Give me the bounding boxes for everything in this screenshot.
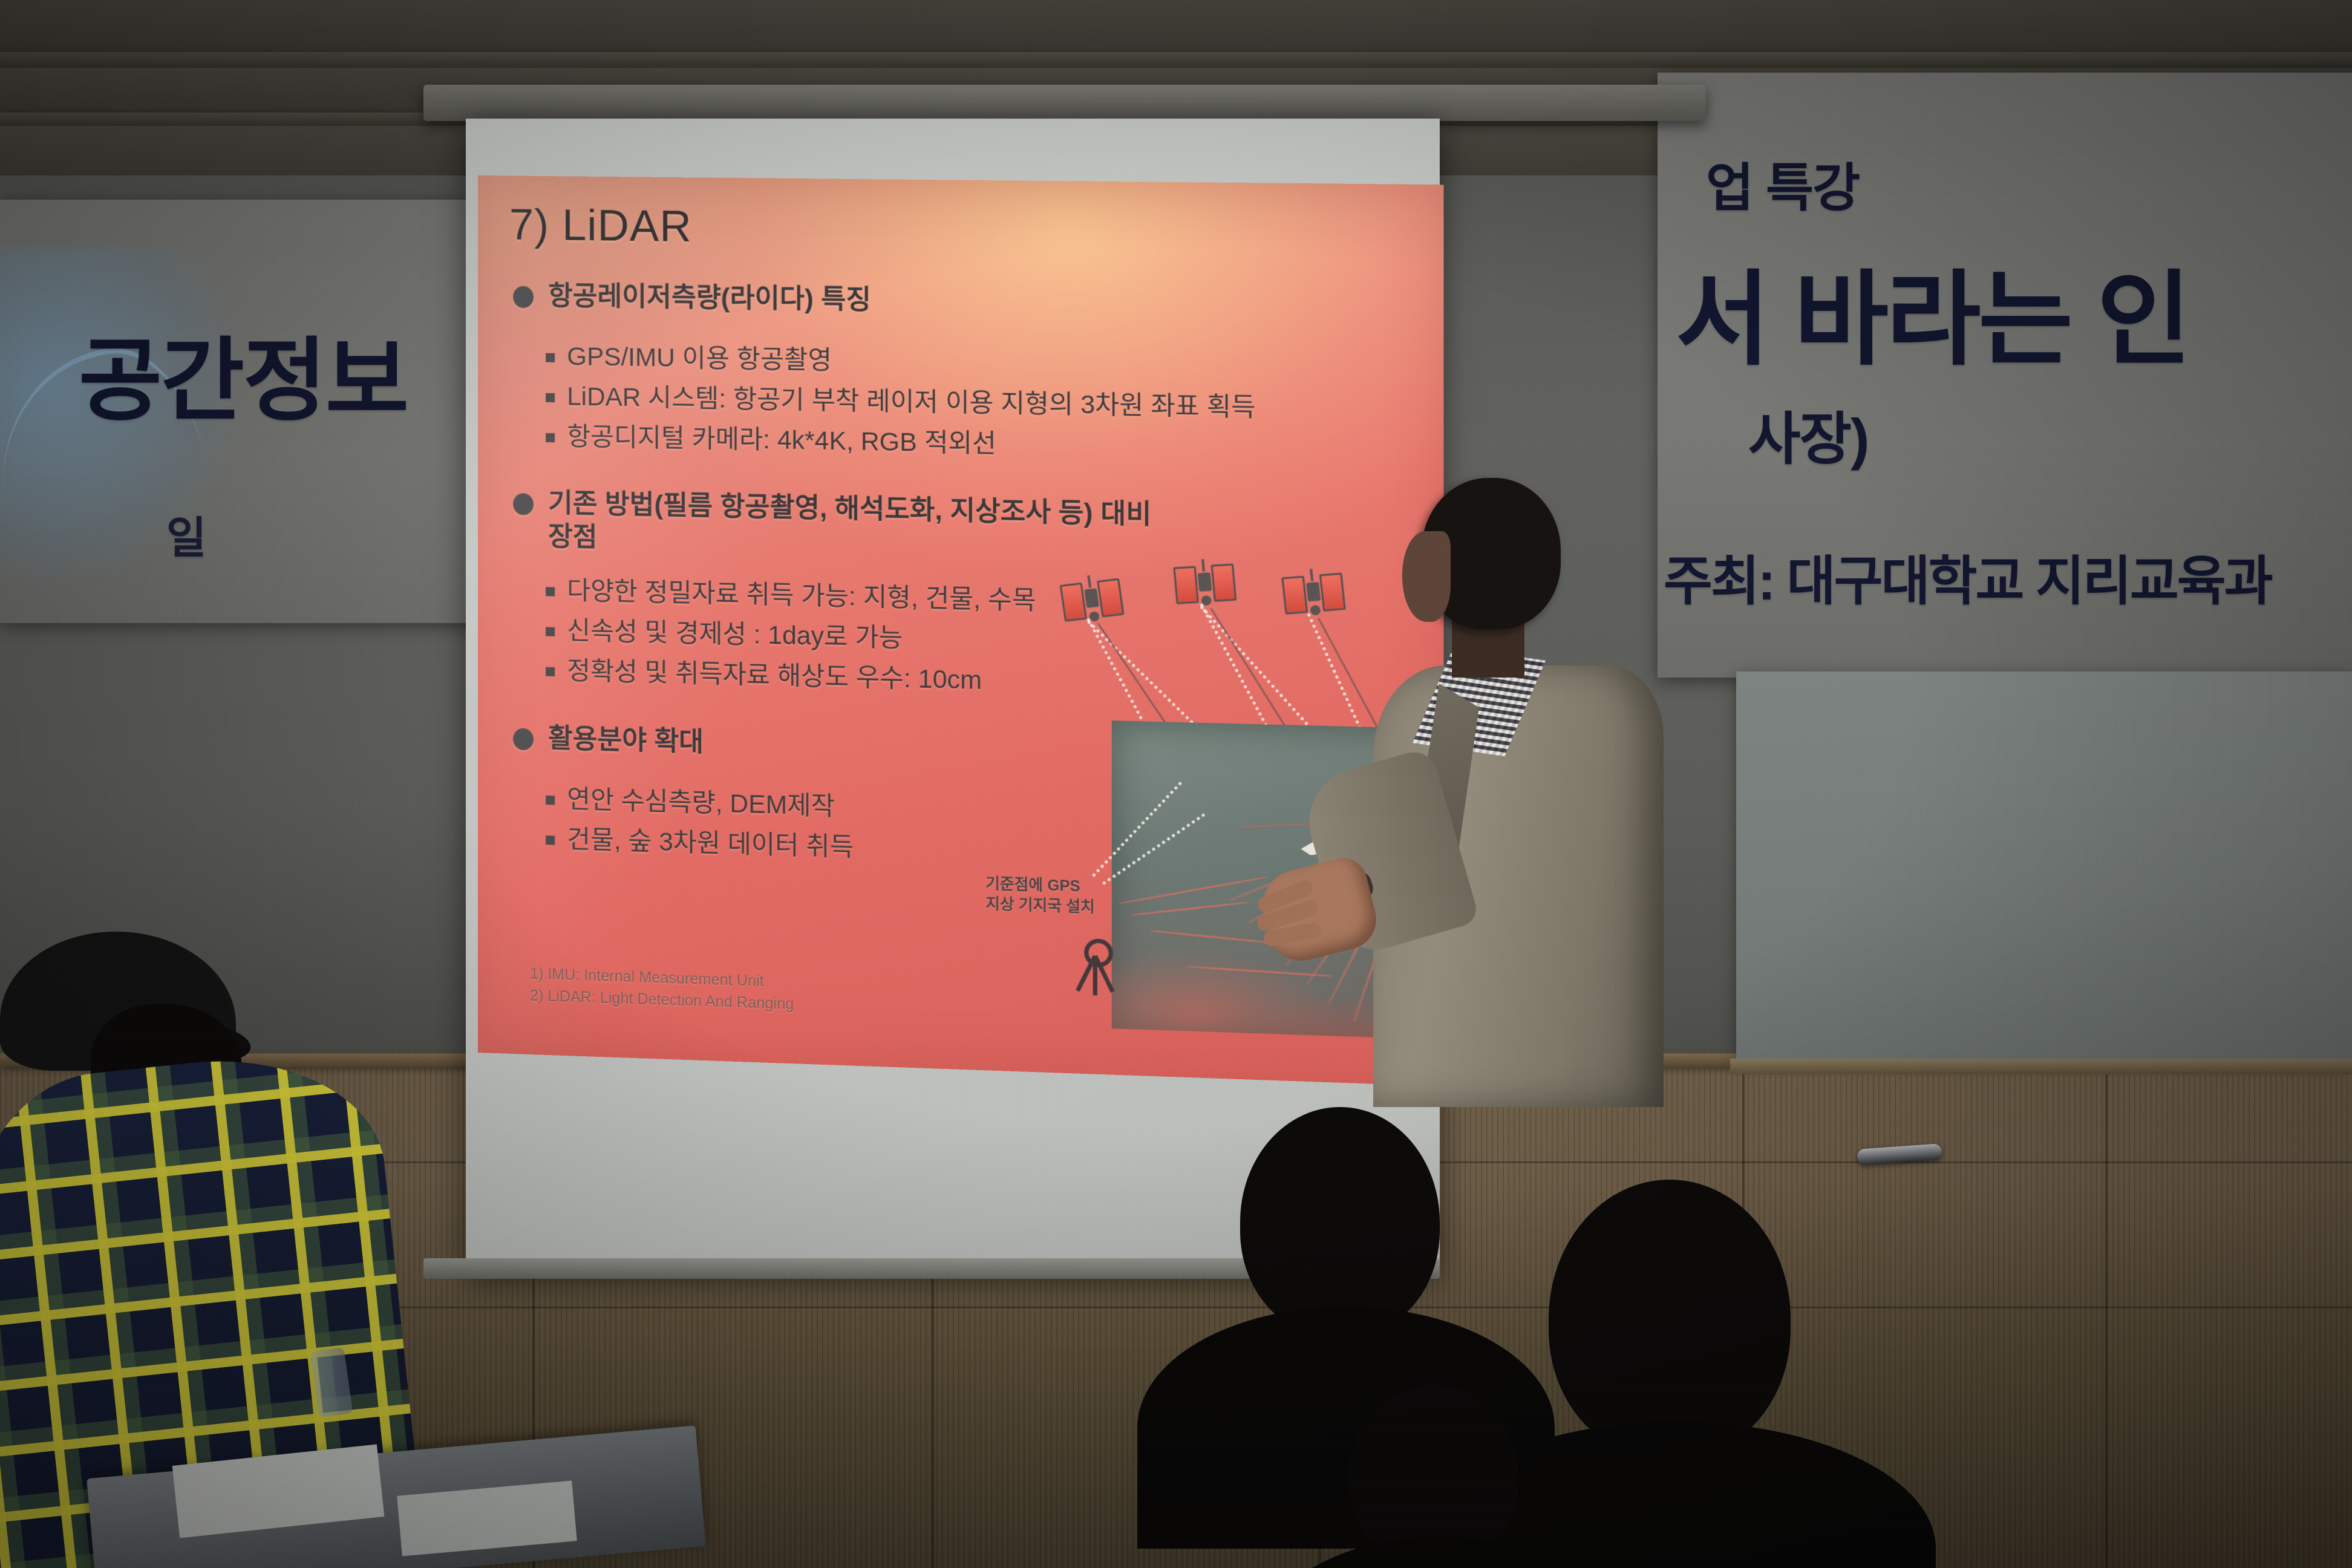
ground-station-label-line2: 지상 기지국 설치 xyxy=(985,894,1094,917)
bullet-text: 연안 수심측량, DEM제작 xyxy=(567,783,835,823)
ceiling-beam xyxy=(0,52,2352,68)
bullet-dot-icon xyxy=(513,728,534,750)
slide-bullet: 신속성 및 경제성 : 1day로 가능 xyxy=(546,613,903,655)
banner-right-main-line: 서 바라는 인 xyxy=(1676,236,2189,385)
banner-left-subtitle: 일 xyxy=(166,502,205,566)
bullet-square-icon xyxy=(546,353,555,362)
slide-section-heading: 항공레이저측량(라이다) 특징 xyxy=(513,279,871,318)
gps-satellite-icon xyxy=(1173,562,1236,602)
slide-bullet: 다양한 정밀자료 취득 가능: 지형, 건물, 수목 xyxy=(546,573,1036,618)
survey-tripod-icon xyxy=(1068,938,1120,996)
presenter-face xyxy=(1402,531,1451,622)
bullet-square-icon xyxy=(546,627,555,636)
bullet-text: LiDAR 시스템: 항공기 부착 레이저 이용 지형의 3차원 좌표 획득 xyxy=(567,380,1255,424)
banner-left-title: 공간정보 xyxy=(79,307,408,439)
bullet-dot-icon xyxy=(513,286,534,308)
ceiling-panel xyxy=(0,0,2352,53)
banner-right-top-line: 업 특강 xyxy=(1706,145,1859,221)
ground-station-label: 기준점에 GPS 지상 기지국 설치 xyxy=(985,874,1094,917)
slide-bullet: 연안 수심측량, DEM제작 xyxy=(546,782,835,823)
slide-footnotes: 1) IMU: Internal Measurement Unit 2) LiD… xyxy=(530,964,794,1016)
slide-section-heading: 활용분야 확대 xyxy=(513,720,704,759)
section-heading-text: 활용분야 확대 xyxy=(548,722,704,759)
bullet-square-icon xyxy=(546,393,555,402)
bullet-text: 신속성 및 경제성 : 1day로 가능 xyxy=(567,614,903,655)
slide-bullet: 정확성 및 취득자료 해상도 우수: 10cm xyxy=(546,654,982,697)
bullet-square-icon xyxy=(546,433,555,442)
section-heading-text: 항공레이저측량(라이다) 특징 xyxy=(548,279,871,317)
slide-bullet: 건물, 숲 3차원 데이터 취득 xyxy=(546,822,854,864)
banner-right: 업 특강 서 바라는 인 사장) 주최: 대구대학교 지리교육과 xyxy=(1658,73,2352,678)
bullet-square-icon xyxy=(546,795,555,805)
ground-station-label-line1: 기준점에 GPS xyxy=(985,874,1094,897)
projection-screen-housing xyxy=(423,85,1706,121)
bullet-text: 건물, 숲 3차원 데이터 취득 xyxy=(567,823,854,864)
banner-right-paren-line: 사장) xyxy=(1748,393,1868,475)
bullet-text: 항공디지털 카메라: 4k*4K, RGB 적외선 xyxy=(567,420,996,460)
wood-seam-vertical xyxy=(2105,1065,2108,1568)
bullet-text: GPS/IMU 이용 항공촬영 xyxy=(567,340,832,377)
slide-bullet: LiDAR 시스템: 항공기 부착 레이저 이용 지형의 3차원 좌표 획득 xyxy=(546,380,1255,425)
gps-satellite-icon xyxy=(1059,577,1124,619)
banner-right-host-line: 주최: 대구대학교 지리교육과 xyxy=(1664,538,2272,615)
slide-title: 7) LiDAR xyxy=(509,200,692,252)
presenter xyxy=(1301,478,1676,1107)
bullet-text: 정확성 및 취득자료 해상도 우수: 10cm xyxy=(567,654,982,697)
bullet-square-icon xyxy=(546,835,555,844)
bullet-text: 다양한 정밀자료 취득 가능: 지형, 건물, 수목 xyxy=(567,574,1036,618)
slide-bullet: 항공디지털 카메라: 4k*4K, RGB 적외선 xyxy=(546,420,996,461)
bullet-dot-icon xyxy=(513,493,534,515)
bullet-square-icon xyxy=(546,587,555,596)
lecture-room-scene: 공간정보 일 업 특강 서 바라는 인 사장) 주최: 대구대학교 지리교육과 … xyxy=(0,0,2352,1568)
whiteboard-ledge xyxy=(1730,1059,2352,1074)
slide-bullet: GPS/IMU 이용 항공촬영 xyxy=(546,340,832,377)
bullet-square-icon xyxy=(546,667,555,676)
whiteboard[interactable] xyxy=(1736,671,2352,1059)
